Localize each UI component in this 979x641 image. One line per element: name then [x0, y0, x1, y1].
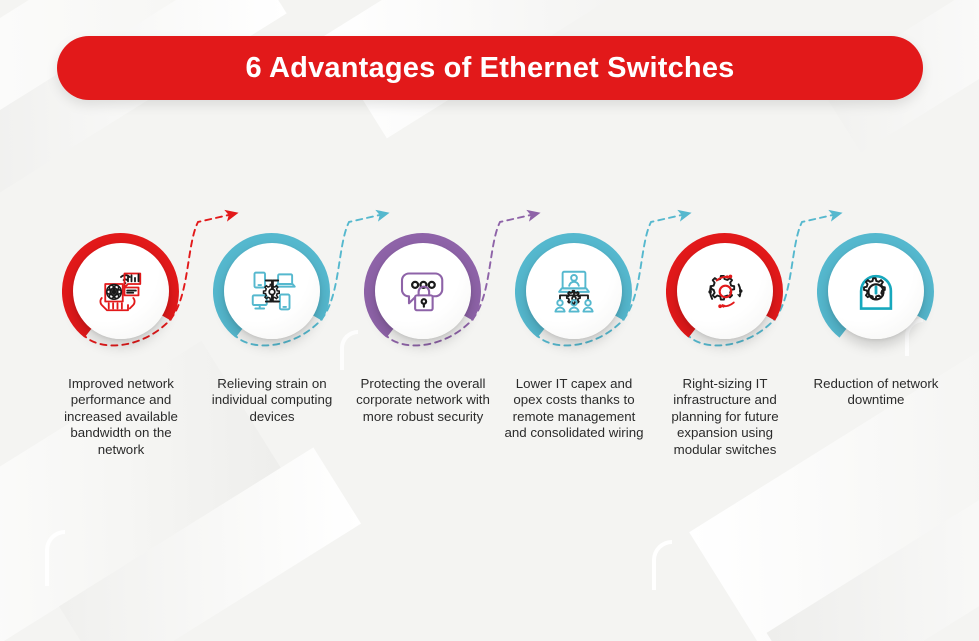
step-circle-3[interactable]: [364, 232, 482, 350]
step-disc-3: [375, 243, 471, 339]
step-disc-1: [73, 243, 169, 339]
infographic-canvas: 6 Advantages of Ethernet Switches: [0, 0, 979, 641]
step-item-3[interactable]: Protecting the overall corporate network…: [347, 232, 499, 425]
step-item-5[interactable]: Right-sizing IT infrastructure and plann…: [649, 232, 801, 458]
step-caption-4: Lower IT capex and opex costs thanks to …: [498, 376, 650, 442]
remote-management-people-icon: [546, 263, 602, 319]
step-circle-5[interactable]: [666, 232, 784, 350]
gear-cycle-arrows-icon: [697, 263, 753, 319]
step-disc-6: [828, 243, 924, 339]
step-circle-1[interactable]: [62, 232, 180, 350]
step-disc-5: [677, 243, 773, 339]
step-caption-1: Improved network performance and increas…: [45, 376, 197, 458]
step-caption-2: Relieving strain on individual computing…: [196, 376, 348, 425]
steps-row: Improved network performance and increas…: [0, 0, 979, 641]
step-caption-5: Right-sizing IT infrastructure and plann…: [649, 376, 801, 458]
step-item-2[interactable]: Relieving strain on individual computing…: [196, 232, 348, 425]
arch-gear-uptime-icon: [848, 263, 904, 319]
step-circle-4[interactable]: [515, 232, 633, 350]
step-disc-4: [526, 243, 622, 339]
step-circle-2[interactable]: [213, 232, 331, 350]
step-item-6[interactable]: Reduction of network downtime: [800, 232, 952, 409]
step-disc-2: [224, 243, 320, 339]
step-caption-6: Reduction of network downtime: [800, 376, 952, 409]
chat-bubble-padlock-icon: [395, 263, 451, 319]
step-item-4[interactable]: Lower IT capex and opex costs thanks to …: [498, 232, 650, 442]
connected-devices-gear-icon: [244, 263, 300, 319]
step-circle-6[interactable]: [817, 232, 935, 350]
step-item-1[interactable]: Improved network performance and increas…: [45, 232, 197, 458]
step-caption-3: Protecting the overall corporate network…: [347, 376, 499, 425]
hands-tablet-network-icon: [93, 263, 149, 319]
